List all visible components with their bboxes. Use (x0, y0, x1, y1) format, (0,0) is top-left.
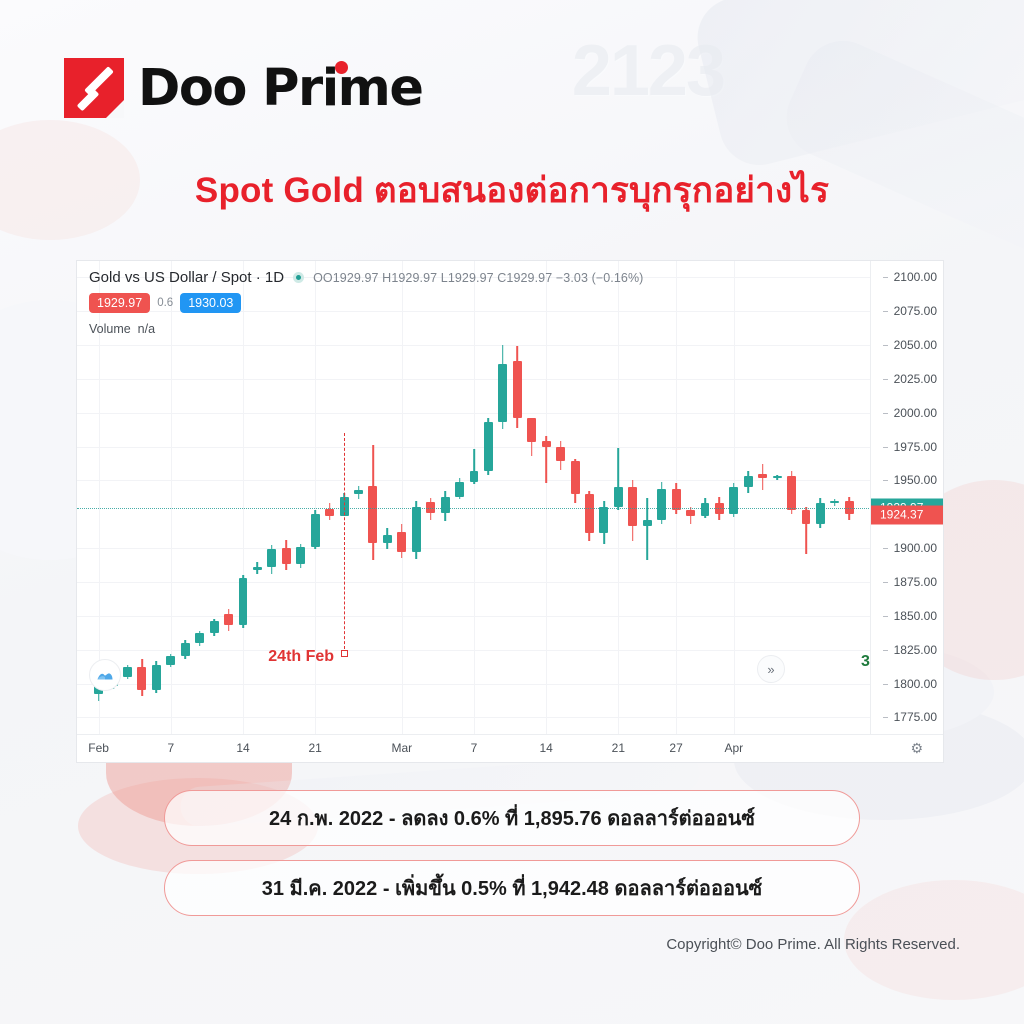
candlestick (498, 345, 507, 429)
candle-body (744, 476, 753, 487)
candle-body (830, 501, 839, 504)
y-axis-tick-mark (883, 717, 888, 718)
candlestick (744, 471, 753, 493)
y-axis-tick-label: 1825.00 (894, 643, 937, 657)
candle-body (296, 547, 305, 565)
candle-body (224, 614, 233, 625)
gear-icon[interactable]: ⚙ (910, 740, 923, 757)
candlestick (470, 449, 479, 484)
candle-body (614, 487, 623, 507)
x-axis-tick-label: Mar (391, 741, 412, 755)
candle-body (571, 461, 580, 494)
candle-body (181, 643, 190, 657)
x-axis-tick-label: 27 (669, 741, 682, 755)
candle-body (441, 497, 450, 513)
candlestick (628, 480, 637, 541)
y-axis-tick-label: 1775.00 (894, 710, 937, 724)
candlestick (455, 478, 464, 500)
y-axis-tick-mark (883, 616, 888, 617)
candlestick (325, 503, 334, 519)
candlestick (282, 540, 291, 570)
candle-body (470, 471, 479, 482)
y-axis-tick-label: 2050.00 (894, 338, 937, 352)
candle-body (787, 476, 796, 510)
candle-body (383, 535, 392, 543)
candle-body (137, 667, 146, 690)
price-label-bid: 1924.37 (871, 506, 943, 525)
candlestick (166, 654, 175, 668)
candlestick (672, 483, 681, 514)
candlestick (354, 486, 363, 500)
candle-body (556, 447, 565, 462)
candle-body (282, 548, 291, 564)
badge-low-price: 1929.97 (89, 293, 150, 313)
candle-body (484, 422, 493, 471)
candlestick (210, 619, 219, 637)
candlestick (253, 562, 262, 574)
candlestick (527, 433, 536, 456)
x-axis-tick-label: Apr (725, 741, 744, 755)
candle-body (152, 665, 161, 691)
x-axis-tick-label: 21 (612, 741, 625, 755)
y-axis-tick-label: 2025.00 (894, 372, 937, 386)
candlestick (585, 491, 594, 541)
annotation-label: 24th Feb (268, 648, 334, 666)
candlestick (729, 483, 738, 517)
volume-label: Volume (89, 322, 131, 336)
candle-body (729, 487, 738, 514)
candle-body (123, 667, 132, 676)
y-axis-tick-mark (883, 277, 888, 278)
annotation-vertical-line (344, 433, 345, 654)
x-axis-tick-label: 21 (309, 741, 322, 755)
candle-body (166, 656, 175, 664)
candlestick (296, 544, 305, 568)
ohlc-values: O1792O1929.97 H1929.97 L1929.97 C1929.97… (313, 271, 643, 285)
candlestick (686, 507, 695, 523)
candle-body (758, 474, 767, 478)
candlestick (181, 640, 190, 659)
candlestick (239, 575, 248, 628)
tradingview-logo-icon[interactable] (89, 659, 121, 691)
candle-body (253, 567, 262, 570)
candle-body (686, 510, 695, 515)
candlestick (816, 498, 825, 528)
doo-prime-logo-icon (64, 58, 124, 118)
chart-legend: Gold vs US Dollar / Spot · 1D O1792O1929… (89, 269, 643, 336)
candlestick (614, 448, 623, 510)
candlestick (224, 609, 233, 631)
chart-y-axis[interactable]: 2100.002075.002050.002025.002000.001975.… (870, 261, 943, 735)
candlestick (484, 418, 493, 475)
chart-plot-area[interactable]: 24th Feb31st Mar Gold vs US Dollar / Spo… (77, 261, 871, 735)
x-axis-tick-label: 14 (539, 741, 552, 755)
candle-body (311, 514, 320, 547)
callout-text-1: 24 ก.พ. 2022 - ลดลง 0.6% ที่ 1,895.76 ดอ… (269, 802, 755, 834)
candle-body (542, 441, 551, 446)
y-axis-tick-label: 1975.00 (894, 440, 937, 454)
y-axis-tick-mark (883, 447, 888, 448)
y-axis-tick-mark (883, 345, 888, 346)
candle-body (368, 486, 377, 543)
candle-body (397, 532, 406, 552)
candle-body (455, 482, 464, 497)
volume-value: n/a (138, 322, 155, 336)
y-axis-tick-label: 1800.00 (894, 677, 937, 691)
series-status-dot-icon (293, 272, 304, 283)
candle-body (527, 418, 536, 442)
y-axis-tick-label: 2100.00 (894, 270, 937, 284)
candle-body (267, 549, 276, 567)
y-axis-tick-mark (883, 311, 888, 312)
chevron-double-right-icon[interactable]: » (757, 655, 785, 683)
candle-body (657, 489, 666, 520)
candle-body (816, 503, 825, 523)
candlestick (123, 665, 132, 680)
candle-body (701, 503, 710, 515)
current-price-line (77, 508, 871, 509)
y-axis-tick-label: 2075.00 (894, 304, 937, 318)
candle-body (599, 507, 608, 533)
candle-body (354, 490, 363, 494)
y-axis-tick-label: 1875.00 (894, 575, 937, 589)
y-axis-tick-mark (883, 480, 888, 481)
x-axis-tick-label: 7 (471, 741, 478, 755)
candle-body (585, 494, 594, 533)
candlestick (152, 661, 161, 694)
candlestick (426, 498, 435, 520)
callout-box-2: 31 มี.ค. 2022 - เพิ่มขึ้น 0.5% ที่ 1,942… (164, 860, 860, 916)
candle-body (802, 510, 811, 524)
candlestick (311, 510, 320, 549)
candlestick (441, 491, 450, 521)
candle-body (325, 509, 334, 516)
candlestick (383, 528, 392, 550)
brand-name-text: Doo Prime (138, 59, 422, 118)
y-axis-tick-mark (883, 650, 888, 651)
candle-body (210, 621, 219, 633)
x-axis-tick-label: 14 (236, 741, 249, 755)
candle-body (715, 503, 724, 514)
ohlc-text: O1929.97 H1929.97 L1929.97 C1929.97 −3.0… (323, 271, 644, 285)
chart-x-axis[interactable]: ⚙ Feb71421Mar7142127Apr (77, 734, 943, 762)
candlestick (830, 499, 839, 506)
candlestick (571, 459, 580, 504)
chart-symbol-title[interactable]: Gold vs US Dollar / Spot · 1D (89, 269, 284, 286)
candle-body (412, 507, 421, 552)
candlestick (556, 441, 565, 469)
candle-body (513, 361, 522, 418)
y-axis-tick-mark (883, 684, 888, 685)
y-axis-tick-label: 1950.00 (894, 473, 937, 487)
candlestick (397, 524, 406, 558)
candlestick (368, 445, 377, 560)
logo-accent-dot-icon (335, 61, 348, 74)
callout-box-1: 24 ก.พ. 2022 - ลดลง 0.6% ที่ 1,895.76 ดอ… (164, 790, 860, 846)
candlestick (758, 464, 767, 490)
annotation-marker-icon (341, 650, 348, 657)
y-axis-tick-label: 2000.00 (894, 406, 937, 420)
candle-body (239, 578, 248, 625)
y-axis-tick-label: 1900.00 (894, 541, 937, 555)
y-axis-tick-mark (883, 379, 888, 380)
candlestick (657, 482, 666, 524)
x-axis-tick-label: Feb (88, 741, 109, 755)
x-axis-tick-label: 7 (167, 741, 174, 755)
brand-name: Doo Prime (138, 59, 422, 118)
badge-mid-value: 0.6 (157, 297, 173, 309)
badge-high-price: 1930.03 (180, 293, 241, 313)
y-axis-tick-mark (883, 413, 888, 414)
candlestick (137, 659, 146, 696)
callout-text-2: 31 มี.ค. 2022 - เพิ่มขึ้น 0.5% ที่ 1,942… (262, 872, 762, 904)
page-title: Spot Gold ตอบสนองต่อการบุกรุกอย่างไร (0, 163, 1024, 218)
candle-body (498, 364, 507, 422)
candlestick (773, 475, 782, 480)
candlestick (542, 436, 551, 483)
candlestick (195, 631, 204, 646)
volume-row: Volume n/a (89, 322, 643, 336)
candle-body (773, 476, 782, 478)
candlestick (802, 507, 811, 553)
candle-body (643, 520, 652, 527)
candle-body (195, 633, 204, 642)
y-axis-tick-label: 1850.00 (894, 609, 937, 623)
candlestick (267, 545, 276, 573)
chart-card: 24th Feb31st Mar Gold vs US Dollar / Spo… (76, 260, 944, 763)
candlestick (513, 346, 522, 427)
y-axis-tick-mark (883, 548, 888, 549)
copyright-text: Copyright© Doo Prime. All Rights Reserve… (666, 936, 960, 953)
brand-logo: Doo Prime (64, 58, 422, 118)
candlestick (412, 501, 421, 559)
y-axis-tick-mark (883, 582, 888, 583)
